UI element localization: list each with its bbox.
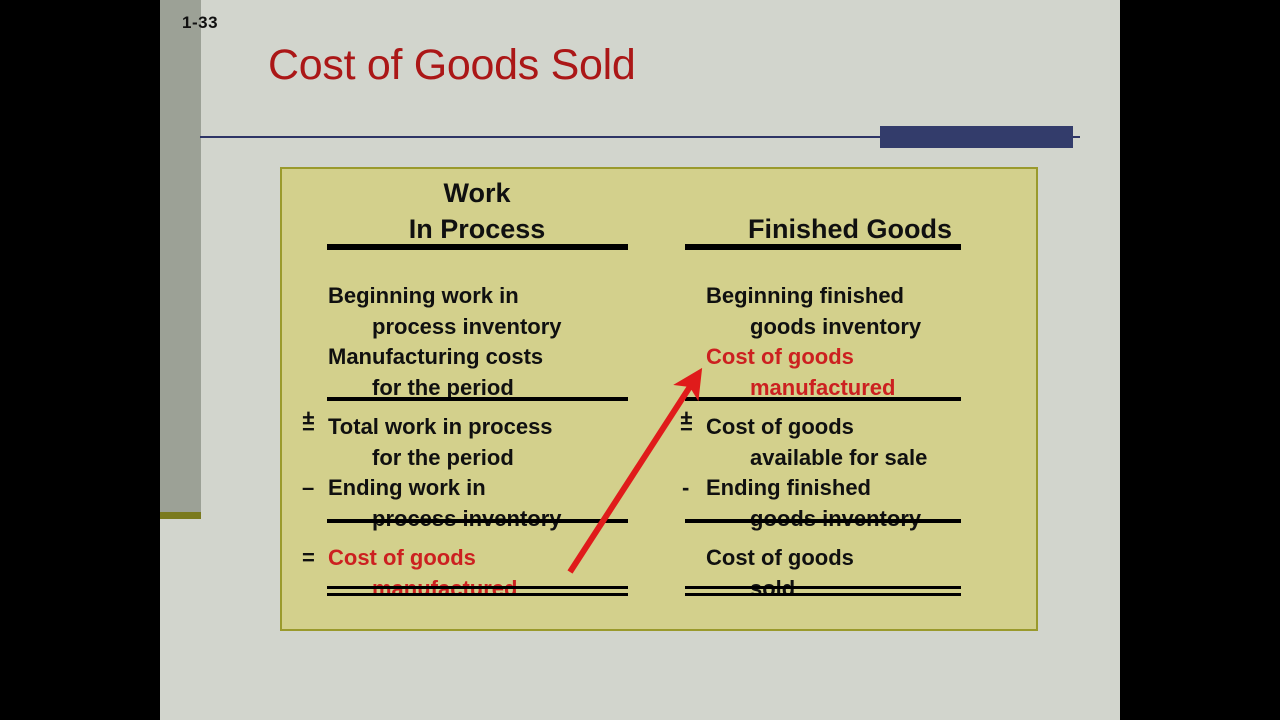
row-text-line2: process inventory <box>302 312 652 343</box>
row-operator: = <box>302 543 324 574</box>
table-row: - Ending finished goods inventory <box>680 473 1020 534</box>
column-heading-line2: In Process <box>409 214 546 244</box>
screenshot-stage: 1-33 Cost of Goods Sold Work In Process … <box>0 0 1280 720</box>
presentation-slide: 1-33 Cost of Goods Sold Work In Process … <box>160 0 1120 720</box>
row-text-line1: Beginning finished <box>680 281 1020 312</box>
row-operator: - <box>682 473 704 504</box>
column-heading-line2: Finished Goods <box>748 214 952 244</box>
row-text-line2: for the period <box>302 443 652 474</box>
row-text-line1: Cost of goods <box>680 543 1020 574</box>
row-text-line1: Manufacturing costs <box>302 342 652 373</box>
table-row: + Manufacturing costs for the period <box>302 342 652 403</box>
row-operator: = <box>302 412 324 443</box>
row-text-line1: Beginning work in <box>302 281 652 312</box>
row-separator-rule <box>685 519 961 523</box>
row-text-line2: goods inventory <box>680 312 1020 343</box>
row-separator-rule <box>327 519 628 523</box>
table-row: Beginning finished goods inventory <box>680 281 1020 342</box>
slide-left-accent-bar <box>160 0 201 512</box>
column-heading-finished-goods: Finished Goods <box>680 169 1020 247</box>
total-double-rule-top <box>685 586 961 589</box>
column-work-in-process: Work In Process Beginning work in proces… <box>302 169 652 629</box>
table-row: Beginning work in process inventory <box>302 281 652 342</box>
slide-left-accent-bar-foot <box>160 512 201 519</box>
table-row: = Total work in process for the period <box>302 412 652 473</box>
cost-flow-panel: Work In Process Beginning work in proces… <box>280 167 1038 631</box>
column-heading-work-in-process: Work In Process <box>302 169 652 247</box>
row-separator-rule <box>685 397 961 401</box>
column-finished-goods: Finished Goods Beginning finished goods … <box>680 169 1020 629</box>
row-text-line1: Cost of goods <box>680 342 1020 373</box>
table-row: = Cost of goods available for sale <box>680 412 1020 473</box>
row-text-line1: Cost of goods <box>680 412 1020 443</box>
row-text-line2: available for sale <box>680 443 1020 474</box>
row-text-line1: Ending finished <box>680 473 1020 504</box>
title-accent-block <box>880 126 1073 148</box>
table-row: + Cost of goods manufactured <box>680 342 1020 403</box>
table-row: – Ending work in process inventory <box>302 473 652 534</box>
column-heading-line1: Work <box>443 178 510 208</box>
row-operator: = <box>680 412 702 443</box>
slide-number: 1-33 <box>182 13 218 33</box>
row-text-line1: Total work in process <box>302 412 652 443</box>
total-double-rule-bottom <box>685 593 961 596</box>
rows-finished-goods: Beginning finished goods inventory + Cos… <box>680 281 1020 604</box>
column-heading-rule <box>685 244 961 250</box>
rows-work-in-process: Beginning work in process inventory + Ma… <box>302 281 652 604</box>
page-title: Cost of Goods Sold <box>268 41 635 90</box>
row-text-line1: Ending work in <box>302 473 652 504</box>
row-text-line1: Cost of goods <box>302 543 652 574</box>
total-double-rule-bottom <box>327 593 628 596</box>
row-separator-rule <box>327 397 628 401</box>
total-double-rule-top <box>327 586 628 589</box>
column-heading-rule <box>327 244 628 250</box>
row-operator: – <box>302 473 324 504</box>
